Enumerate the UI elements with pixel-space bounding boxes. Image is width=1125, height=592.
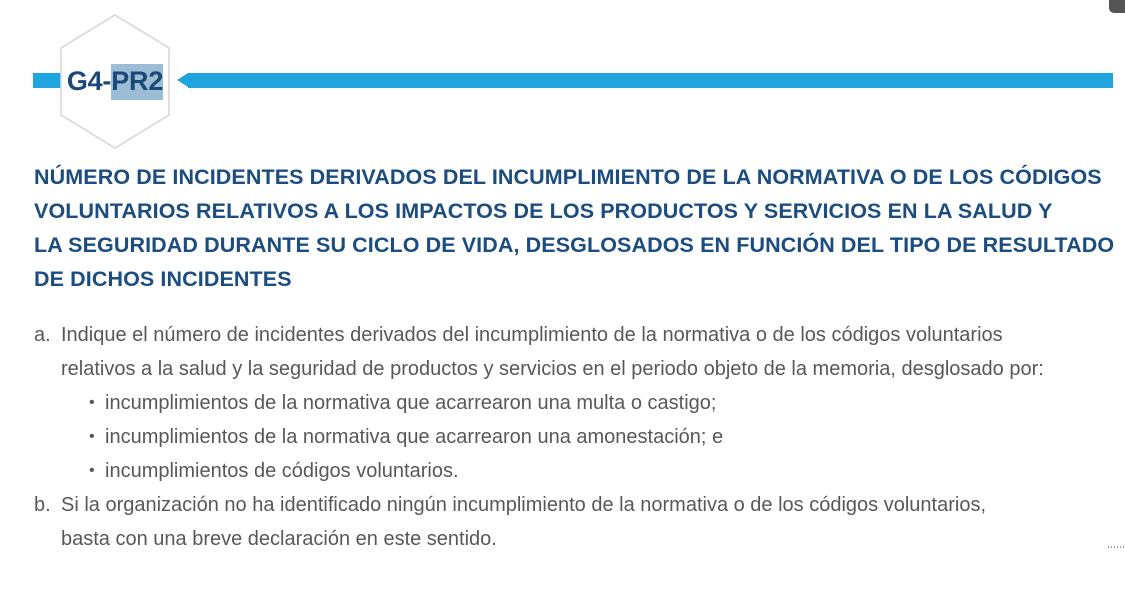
indicator-badge: G4-PR2: [58, 13, 172, 150]
list-item-b-line1: Si la organización no ha identificado ni…: [61, 488, 1114, 522]
bullet-icon: •: [89, 454, 105, 488]
page-title: NÚMERO DE INCIDENTES DERIVADOS DEL INCUM…: [34, 160, 1094, 296]
list-item-a-line2: relativos a la salud y la seguridad de p…: [61, 352, 1114, 386]
bullet-icon: •: [89, 420, 105, 454]
page-title-line: LA SEGURIDAD DURANTE SU CICLO DE VIDA, D…: [34, 228, 1094, 262]
bullet-text: incumplimientos de códigos voluntarios.: [105, 454, 1114, 488]
page-title-line: VOLUNTARIOS RELATIVOS A LOS IMPACTOS DE …: [34, 194, 1094, 228]
bullet-list: • incumplimientos de la normativa que ac…: [61, 386, 1114, 488]
document-page: G4-PR2 NÚMERO DE INCIDENTES DERIVADOS DE…: [0, 0, 1125, 592]
viewer-corner-artifact: [1109, 0, 1125, 13]
bullet-text: incumplimientos de la normativa que acar…: [105, 420, 1114, 454]
list-item-a-content: Indique el número de incidentes derivado…: [61, 318, 1114, 488]
indicator-code-prefix: G4-: [67, 66, 111, 97]
list-item: • incumplimientos de códigos voluntarios…: [61, 454, 1114, 488]
list-item: • incumplimientos de la normativa que ac…: [61, 420, 1114, 454]
indicator-code-selected: PR2: [111, 64, 163, 100]
list-item-b-line2: basta con una breve declaración en este …: [61, 522, 1114, 556]
page-title-line: NÚMERO DE INCIDENTES DERIVADOS DEL INCUM…: [34, 160, 1094, 194]
bullet-icon: •: [89, 386, 105, 420]
list-item-b-content: Si la organización no ha identificado ni…: [61, 488, 1114, 556]
accent-rule-right: [188, 73, 1113, 88]
list-item-b-marker: b.: [34, 488, 61, 522]
bullet-text: incumplimientos de la normativa que acar…: [105, 386, 1114, 420]
requirements-body: a. Indique el número de incidentes deriv…: [34, 318, 1114, 556]
page-title-line: DE DICHOS INCIDENTES: [34, 262, 1094, 296]
list-item-b: b. Si la organización no ha identificado…: [34, 488, 1114, 556]
list-item-a-marker: a.: [34, 318, 61, 352]
viewer-dotted-artifact: [1108, 546, 1125, 548]
section-header-band: G4-PR2: [0, 0, 1125, 148]
list-item-a-line1: Indique el número de incidentes derivado…: [61, 318, 1114, 352]
list-item-a: a. Indique el número de incidentes deriv…: [34, 318, 1114, 488]
indicator-code: G4-PR2: [58, 13, 172, 150]
list-item: • incumplimientos de la normativa que ac…: [61, 386, 1114, 420]
